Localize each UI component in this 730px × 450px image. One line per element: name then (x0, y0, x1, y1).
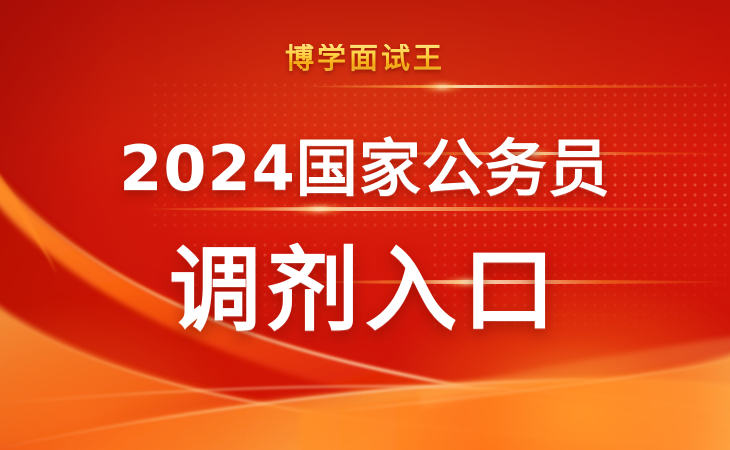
poster-content: 博学面试王 2024国家公务员 调剂入口 (0, 0, 730, 450)
headline-line-1: 2024国家公务员 (0, 138, 730, 200)
headline-line-2: 调剂入口 (0, 245, 730, 337)
poster-banner: 博学面试王 2024国家公务员 调剂入口 (0, 0, 730, 450)
brand-title: 博学面试王 (0, 44, 730, 73)
